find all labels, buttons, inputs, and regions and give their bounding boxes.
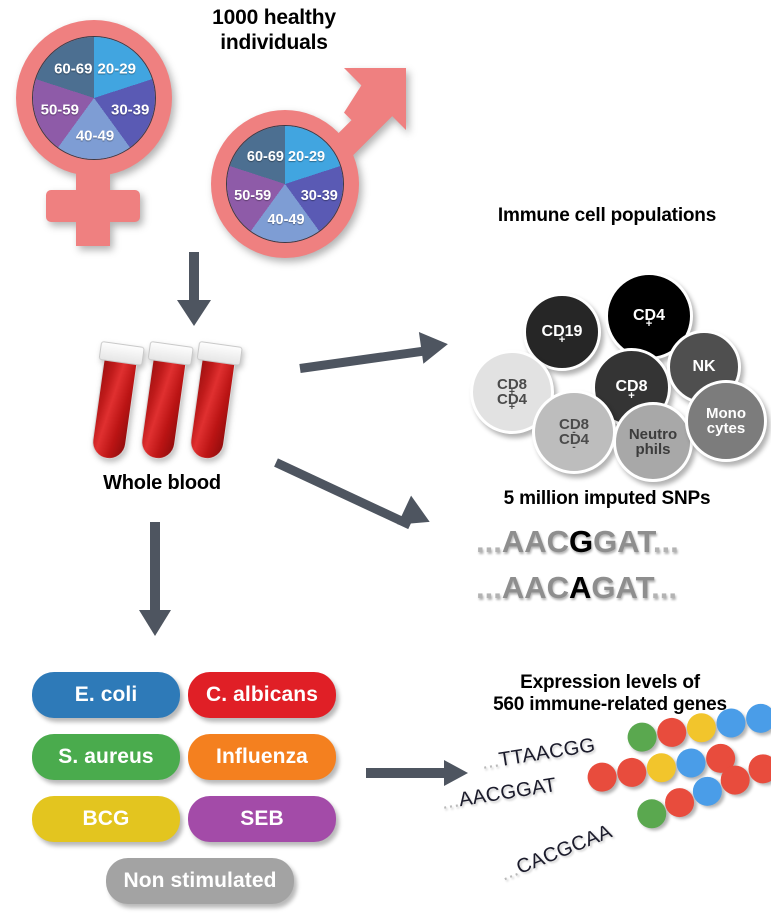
stimulus-pill[interactable]: C. albicans: [188, 672, 336, 718]
blood-tube: [190, 342, 238, 450]
snp-sequence-row: ...AACAGAT...: [476, 570, 677, 606]
rna-bead-green: [626, 721, 659, 754]
age-group-label-60-69: 60-69: [247, 149, 284, 165]
immune-population-label: Neutrophils: [629, 427, 677, 458]
stimulus-label: C. albicans: [206, 683, 318, 707]
rna-bead-yellow: [685, 711, 718, 744]
age-group-label-60-69: 60-69: [54, 61, 92, 78]
figure-canvas: 1000 healthy individuals 20-2930-3940-49…: [0, 0, 771, 922]
stimulus-label: S. aureus: [58, 745, 153, 769]
rna-bead-red: [615, 756, 648, 789]
stimulus-label: E. coli: [75, 683, 138, 707]
age-group-label-40-49: 40-49: [267, 212, 304, 228]
immune-population-label: CD8-CD4-: [559, 417, 589, 448]
rna-bead-yellow: [645, 751, 678, 784]
whole-blood-label: Whole blood: [62, 472, 262, 496]
age-group-label-20-29: 20-29: [288, 149, 325, 165]
immune-population-bubble[interactable]: Monocytes: [685, 380, 767, 462]
immune-bubble-cluster: CD19+CD4+CD8+CD4+CD8+NKCD8-CD4-Neutrophi…: [470, 240, 770, 420]
stimulus-pill[interactable]: Influenza: [188, 734, 336, 780]
stimulus-pill[interactable]: SEB: [188, 796, 336, 842]
stimulus-label: Influenza: [216, 745, 308, 769]
immune-population-label: CD19+: [542, 324, 583, 340]
cohort-title-line1: 1000 healthy: [176, 6, 372, 31]
female-symbol: 20-2930-3940-4950-5960-69: [8, 14, 178, 254]
arrow-shaft: [366, 768, 448, 778]
immune-population-label: CD8+: [615, 379, 647, 395]
immune-population-label: CD8+CD4+: [497, 377, 527, 408]
blood-tubes-group: [100, 340, 290, 470]
age-group-label-50-59: 50-59: [41, 102, 79, 119]
snps-title: 5 million imputed SNPs: [452, 488, 762, 510]
stimulus-pill[interactable]: E. coli: [32, 672, 180, 718]
tube-body: [188, 354, 236, 462]
blood-tube: [141, 342, 189, 450]
arrow-head: [177, 300, 211, 326]
stimulus-label: Non stimulated: [123, 869, 276, 893]
cohort-title: 1000 healthy individuals: [176, 6, 372, 56]
immune-population-label: Monocytes: [706, 406, 746, 437]
age-group-label-50-59: 50-59: [234, 188, 271, 204]
immune-population-label: NK: [692, 359, 715, 375]
age-pie-male: 20-2930-3940-4950-5960-69: [226, 125, 344, 243]
snp-sequences: ...AACGGAT......AACAGAT...: [470, 524, 760, 616]
female-cross-bar: [46, 190, 140, 222]
rna-bead-red: [586, 761, 619, 794]
immune-population-bubble[interactable]: Neutrophils: [613, 402, 693, 482]
arrow-shaft: [274, 458, 412, 529]
rna-strands: ...TTAACGG...AACGGAT...CACGCAA: [452, 730, 768, 920]
immune-population-bubble[interactable]: CD8-CD4-: [532, 390, 616, 474]
expression-title-line1: Expression levels of: [452, 672, 768, 694]
immune-population-label: CD4+: [633, 308, 665, 324]
arrow-head: [139, 610, 171, 636]
age-group-label-30-39: 30-39: [301, 188, 338, 204]
stimulus-pill[interactable]: Non stimulated: [106, 858, 294, 904]
rna-bead-blue: [744, 702, 771, 735]
tube-body: [139, 354, 187, 462]
stimulus-label: BCG: [83, 807, 130, 831]
stimuli-grid: E. coliC. albicansS. aureusInfluenzaBCGS…: [32, 672, 342, 892]
arrow-shaft: [150, 522, 160, 618]
arrow-head: [419, 328, 450, 363]
rna-bead-red: [655, 716, 688, 749]
snp-sequence-row: ...AACGGAT...: [476, 524, 679, 560]
rna-bead-blue: [714, 706, 747, 739]
stimulus-label: SEB: [240, 807, 283, 831]
tube-body: [90, 354, 138, 462]
age-group-label-30-39: 30-39: [111, 102, 149, 119]
rna-sequence-text: ...CACGCAA: [497, 821, 616, 887]
stimulus-pill[interactable]: S. aureus: [32, 734, 180, 780]
age-group-label-20-29: 20-29: [98, 61, 136, 78]
rna-sequence-text: ...AACGGAT: [440, 774, 558, 815]
male-arrow-head: [344, 68, 406, 130]
arrow-head: [398, 496, 437, 537]
rna-bead-blue: [674, 746, 707, 779]
male-symbol: 20-2930-3940-4950-5960-69: [205, 88, 405, 260]
age-group-label-40-49: 40-49: [76, 128, 114, 145]
arrow-shaft: [299, 346, 429, 373]
stimulus-pill[interactable]: BCG: [32, 796, 180, 842]
age-pie-female: 20-2930-3940-4950-5960-69: [32, 36, 156, 160]
cohort-title-line2: individuals: [176, 31, 372, 56]
blood-tube: [92, 342, 140, 450]
immune-title: Immune cell populations: [452, 205, 762, 227]
